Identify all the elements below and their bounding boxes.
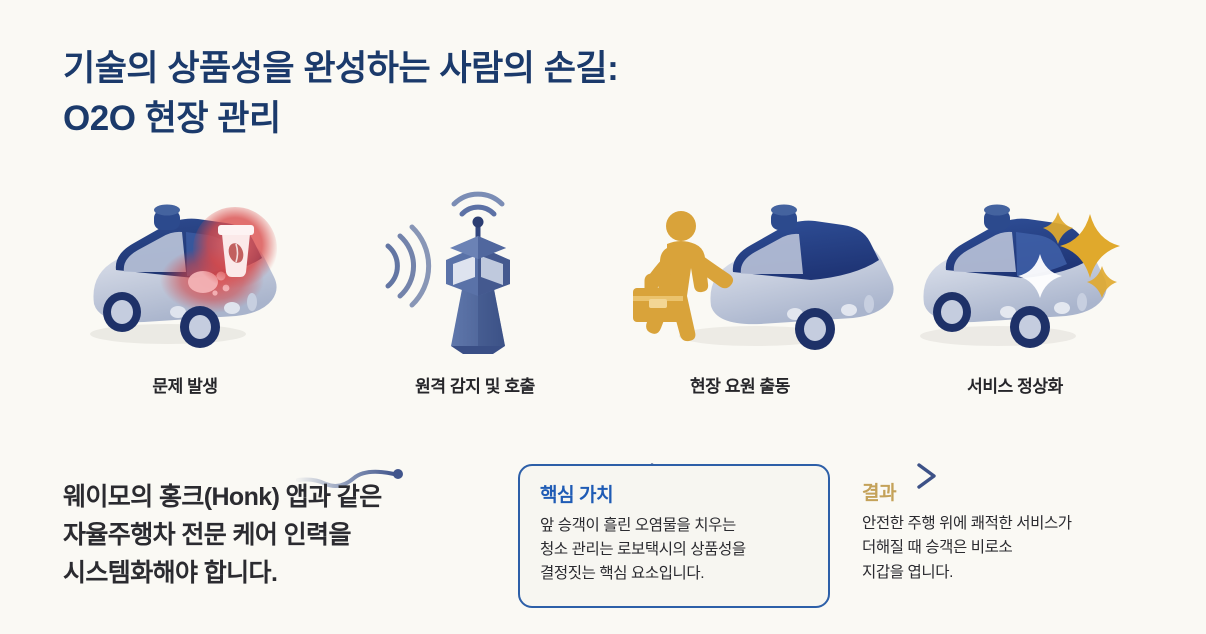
result-line-3: 지갑을 엽니다. xyxy=(862,561,1162,585)
clean-robotaxi-icon xyxy=(890,196,1140,356)
process-flow: 문제 발생 xyxy=(0,196,1206,406)
flow-step-label: 현장 요원 출동 xyxy=(615,372,865,397)
lead-statement: 웨이모의 홍크(Honk) 앱과 같은 자율주행차 전문 케어 인력을 시스템화… xyxy=(63,478,483,592)
flow-step-remote-detect: 원격 감지 및 호출 xyxy=(350,196,600,406)
robotaxi-with-spill-icon xyxy=(60,196,310,356)
flow-step-label: 서비스 정상화 xyxy=(890,372,1140,397)
result-title: 결과 xyxy=(862,478,1162,505)
flow-step-label: 문제 발생 xyxy=(60,372,310,397)
result-column: 결과 안전한 주행 위에 쾌적한 서비스가 더해질 때 승객은 비로소 지갑을 … xyxy=(862,478,1162,585)
lead-statement-line-3: 시스템화해야 합니다. xyxy=(63,554,483,592)
field-worker-with-toolbox-icon xyxy=(615,196,865,356)
lead-statement-line-1: 웨이모의 홍크(Honk) 앱과 같은 xyxy=(63,478,483,516)
wifi-signal-icon xyxy=(388,227,429,305)
result-body: 안전한 주행 위에 쾌적한 서비스가 더해질 때 승객은 비로소 지갑을 엽니다… xyxy=(862,512,1162,585)
flow-step-field-dispatch: 현장 요원 출동 xyxy=(615,196,865,406)
core-value-callout: 핵심 가치 앞 승객이 흘린 오염물을 치우는 청소 관리는 로보택시의 상품성… xyxy=(518,464,830,608)
slide-canvas: 기술의 상품성을 완성하는 사람의 손길: O2O 현장 관리 xyxy=(0,0,1206,634)
flow-step-label: 원격 감지 및 호출 xyxy=(350,372,600,397)
core-value-line-3: 결정짓는 핵심 요소입니다. xyxy=(540,562,808,586)
result-line-2: 더해질 때 승객은 비로소 xyxy=(862,536,1162,560)
flow-step-service-restored: 서비스 정상화 xyxy=(890,196,1140,406)
core-value-title: 핵심 가치 xyxy=(540,480,808,507)
core-value-line-1: 앞 승객이 흘린 오염물을 치우는 xyxy=(540,514,808,538)
control-tower-icon xyxy=(350,196,600,356)
result-line-1: 안전한 주행 위에 쾌적한 서비스가 xyxy=(862,512,1162,536)
page-title-line-2: O2O 현장 관리 xyxy=(63,94,823,144)
core-value-line-2: 청소 관리는 로보택시의 상품성을 xyxy=(540,538,808,562)
core-value-body: 앞 승객이 흘린 오염물을 치우는 청소 관리는 로보택시의 상품성을 결정짓는… xyxy=(540,514,808,586)
flow-step-problem: 문제 발생 xyxy=(60,196,310,406)
page-title: 기술의 상품성을 완성하는 사람의 손길: O2O 현장 관리 xyxy=(63,44,823,143)
lead-statement-line-2: 자율주행차 전문 케어 인력을 xyxy=(63,516,483,554)
page-title-line-1: 기술의 상품성을 완성하는 사람의 손길: xyxy=(63,44,823,94)
